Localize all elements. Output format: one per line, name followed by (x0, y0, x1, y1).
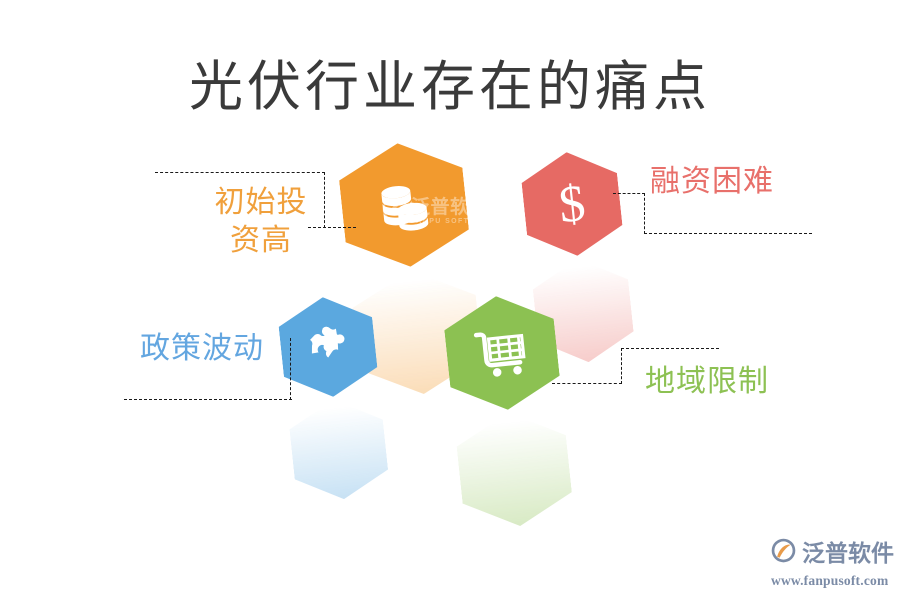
connector-policy-fluctuation (124, 399, 292, 400)
page-title: 光伏行业存在的痛点 (0, 42, 900, 121)
connector-regional-restriction (621, 348, 719, 349)
node-label-financing-difficulty: 融资困难 (650, 163, 774, 201)
node-financing-difficulty[interactable]: $ (519, 147, 625, 260)
hexagon-reflection-blue (287, 395, 391, 504)
hexagon-shape-red: $ (519, 147, 625, 260)
hexagon-shape-orange (336, 137, 472, 273)
brand-logo-icon (770, 537, 797, 569)
puzzle-piece-icon-glyph (276, 292, 380, 401)
shopping-cart-icon (441, 291, 562, 416)
hexagon-shape-blue (276, 292, 380, 401)
connector-initial-investment (155, 172, 325, 173)
connector-financing-difficulty (644, 233, 812, 234)
node-regional-restriction[interactable] (441, 291, 562, 416)
node-label-policy-fluctuation: 政策波动 (140, 330, 264, 368)
brand-url: www.fanpusoft.com (771, 573, 888, 589)
connector-financing-difficulty (644, 193, 645, 234)
node-policy-fluctuation[interactable] (276, 292, 380, 401)
coins-stack-icon (336, 137, 472, 273)
brand-name: 泛普软件 (802, 542, 894, 565)
connector-regional-restriction (621, 348, 622, 384)
connector-financing-difficulty (613, 193, 645, 194)
node-initial-investment[interactable] (336, 137, 472, 273)
hexagon-shape-green (441, 291, 562, 416)
node-label-regional-restriction: 地域限制 (645, 363, 769, 401)
hexagon-reflection-green (454, 407, 575, 532)
node-label-initial-investment: 初始投 资高 (196, 184, 326, 261)
connector-regional-restriction (552, 383, 622, 384)
brand-logo: 泛普软件 www.fanpusoft.com (770, 537, 894, 589)
dollar-sign-icon: $ (519, 147, 625, 260)
connector-policy-fluctuation (290, 338, 291, 400)
svg-text:$: $ (556, 175, 588, 234)
slide-canvas: 光伏行业存在的痛点 (0, 0, 900, 600)
